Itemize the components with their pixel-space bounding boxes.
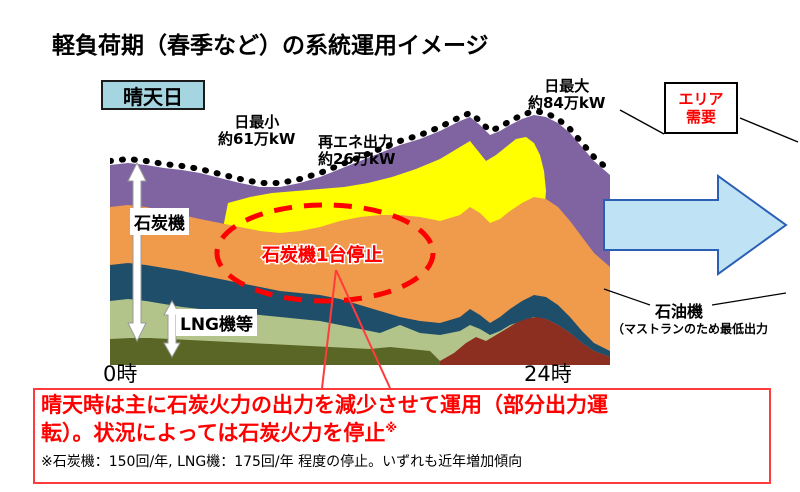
callout-footnote-mark: ※ <box>385 421 397 435</box>
area-demand-line1: エリア <box>678 90 723 108</box>
axis-label-end: 24時 <box>524 358 572 388</box>
slide-root: 軽負荷期（春季など）の系統運用イメージ 晴天日 <box>0 0 800 492</box>
callout-line-1: 晴天時は主に石炭火力の出力を減少させて運用（部分出力運 <box>41 392 763 420</box>
oil-unit-label: 石油機 <box>655 298 703 322</box>
daily-min-title: 日最小 <box>218 114 295 131</box>
lng-unit-label: LNG機等 <box>176 309 257 336</box>
bottom-callout: 晴天時は主に石炭火力の出力を減少させて運用（部分出力運 転）。状況によっては石炭… <box>33 388 771 484</box>
oil-unit-note: （マストランのため最低出力 <box>612 320 768 337</box>
callout-line-2: 転）。状況によっては石炭火力を停止 <box>41 421 385 445</box>
callout-connector <box>300 260 440 395</box>
area-demand-box: エリア 需要 <box>664 82 738 134</box>
callout-footnote: ※石炭機：150回/年, LNG機：175回/年 程度の停止。いずれも近年増加傾… <box>41 451 763 471</box>
daily-min-label: 日最小 約61万kW <box>218 114 295 149</box>
renewable-output-value: 約26万kW <box>318 151 395 168</box>
demand-flow-arrow <box>600 170 790 280</box>
area-demand-line2: 需要 <box>686 108 716 126</box>
page-title: 軽負荷期（春季など）の系統運用イメージ <box>52 26 489 60</box>
daily-min-value: 約61万kW <box>218 131 295 148</box>
axis-label-start: 0時 <box>103 358 137 388</box>
renewable-output-label: 再エネ出力 約26万kW <box>318 134 395 169</box>
coal-unit-label: 石炭機 <box>130 208 189 235</box>
callout-line-2-wrap: 転）。状況によっては石炭火力を停止※ <box>41 420 763 448</box>
renewable-output-title: 再エネ出力 <box>318 134 395 151</box>
